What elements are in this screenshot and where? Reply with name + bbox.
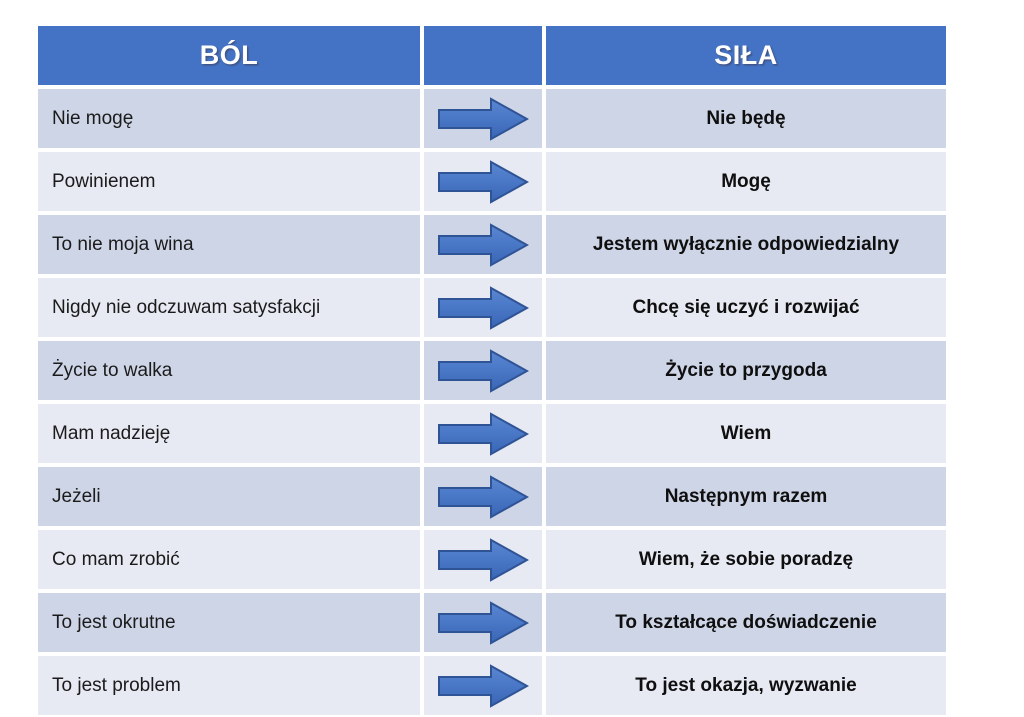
cell-power: Nie będę <box>546 89 946 148</box>
cell-arrow <box>424 278 542 337</box>
cell-arrow <box>424 656 542 715</box>
right-arrow-icon <box>437 286 529 330</box>
cell-power: Życie to przygoda <box>546 341 946 400</box>
cell-arrow <box>424 467 542 526</box>
header-cell-pain: BÓL <box>38 26 420 85</box>
right-arrow-icon <box>437 349 529 393</box>
cell-pain: To jest problem <box>38 656 420 715</box>
cell-arrow <box>424 152 542 211</box>
cell-pain: Co mam zrobić <box>38 530 420 589</box>
table-row-9: To jest okrutne To kształcące doświadc <box>38 593 946 652</box>
cell-arrow <box>424 215 542 274</box>
table-row-2: Powinienem Mogę <box>38 152 946 211</box>
table-row-1: Nie mogę Nie będę <box>38 89 946 148</box>
right-arrow-icon <box>437 601 529 645</box>
cell-arrow <box>424 341 542 400</box>
header-cell-power: SIŁA <box>546 26 946 85</box>
table-row-10: To jest problem To jest okazja, wyzwan <box>38 656 946 715</box>
cell-arrow <box>424 89 542 148</box>
pain-text: Nigdy nie odczuwam satysfakcji <box>38 297 320 319</box>
cell-power: Następnym razem <box>546 467 946 526</box>
table-row-7: Jeżeli Następnym razem <box>38 467 946 526</box>
right-arrow-icon <box>437 97 529 141</box>
right-arrow-icon <box>437 538 529 582</box>
cell-arrow <box>424 530 542 589</box>
table-row-5: Życie to walka Życie to przygoda <box>38 341 946 400</box>
cell-pain: Życie to walka <box>38 341 420 400</box>
pain-text: To nie moja wina <box>38 234 194 256</box>
right-arrow-icon <box>437 160 529 204</box>
cell-pain: Jeżeli <box>38 467 420 526</box>
right-arrow-icon <box>437 664 529 708</box>
pain-text: Co mam zrobić <box>38 549 180 571</box>
power-text: Następnym razem <box>665 486 828 508</box>
power-text: Wiem <box>721 423 772 445</box>
cell-pain: Powinienem <box>38 152 420 211</box>
cell-power: To kształcące doświadczenie <box>546 593 946 652</box>
table-body: Nie mogę Nie będę <box>38 89 946 715</box>
power-text: To kształcące doświadczenie <box>615 612 877 634</box>
cell-arrow <box>424 404 542 463</box>
header-label-pain: BÓL <box>200 40 259 71</box>
cell-power: Jestem wyłącznie odpowiedzialny <box>546 215 946 274</box>
cell-pain: Nie mogę <box>38 89 420 148</box>
header-cell-arrow <box>424 26 542 85</box>
cell-power: Mogę <box>546 152 946 211</box>
table-row-6: Mam nadzieję Wiem <box>38 404 946 463</box>
pain-text: Życie to walka <box>38 360 172 382</box>
table-row-3: To nie moja wina Jestem wyłącznie odpo <box>38 215 946 274</box>
cell-power: Chcę się uczyć i rozwijać <box>546 278 946 337</box>
power-text: Chcę się uczyć i rozwijać <box>632 297 859 319</box>
right-arrow-icon <box>437 223 529 267</box>
table-row-8: Co mam zrobić Wiem, że sobie poradzę <box>38 530 946 589</box>
pain-text: Powinienem <box>38 171 156 193</box>
table-row-4: Nigdy nie odczuwam satysfakcji Chcę si <box>38 278 946 337</box>
power-text: Wiem, że sobie poradzę <box>639 549 853 571</box>
pain-text: Mam nadzieję <box>38 423 170 445</box>
cell-power: Wiem <box>546 404 946 463</box>
pain-text: Nie mogę <box>38 108 133 130</box>
right-arrow-icon <box>437 475 529 519</box>
power-text: Życie to przygoda <box>665 360 827 382</box>
cell-arrow <box>424 593 542 652</box>
pain-text: To jest problem <box>38 675 181 697</box>
cell-pain: To nie moja wina <box>38 215 420 274</box>
power-text: To jest okazja, wyzwanie <box>635 675 856 697</box>
power-text: Nie będę <box>706 108 785 130</box>
power-text: Jestem wyłącznie odpowiedzialny <box>593 234 899 256</box>
cell-power: Wiem, że sobie poradzę <box>546 530 946 589</box>
power-text: Mogę <box>721 171 771 193</box>
cell-power: To jest okazja, wyzwanie <box>546 656 946 715</box>
right-arrow-icon <box>437 412 529 456</box>
pain-text: Jeżeli <box>38 486 101 508</box>
pain-text: To jest okrutne <box>38 612 176 634</box>
cell-pain: To jest okrutne <box>38 593 420 652</box>
header-label-power: SIŁA <box>714 40 778 71</box>
comparison-table: BÓL SIŁA Nie mogę <box>38 26 946 682</box>
cell-pain: Mam nadzieję <box>38 404 420 463</box>
cell-pain: Nigdy nie odczuwam satysfakcji <box>38 278 420 337</box>
table-header-row: BÓL SIŁA <box>38 26 946 85</box>
